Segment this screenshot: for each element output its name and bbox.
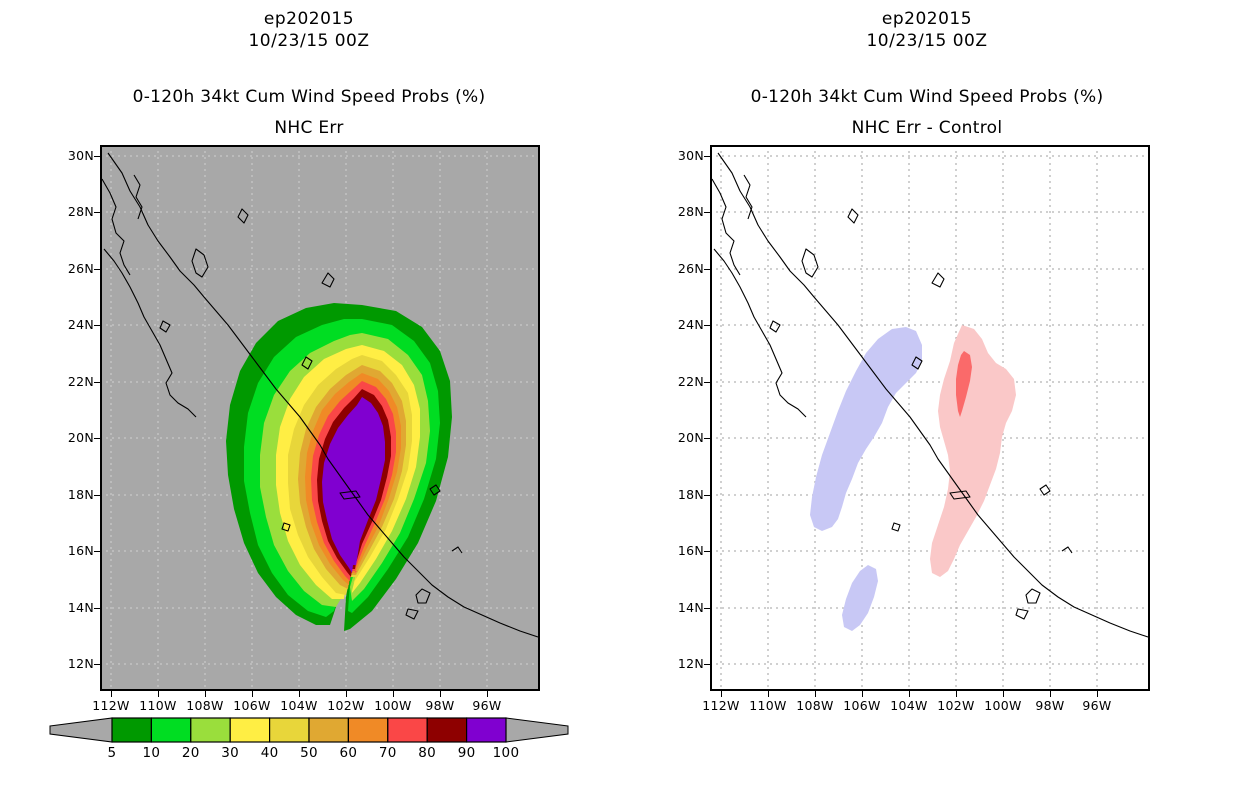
colorbar-tick-1: 10 [143, 746, 161, 760]
left-date: 10/23/15 00Z [0, 30, 618, 52]
colorbar-tick-6: 60 [340, 746, 358, 760]
colorbar-tick-5: 50 [300, 746, 318, 760]
colorbar-tick-4: 40 [261, 746, 279, 760]
map-frame-left [100, 145, 540, 691]
colorbar-probability[interactable]: 5 10 20 30 40 50 60 70 80 90 100 [0, 716, 618, 774]
colorbar-tick-9: 90 [458, 746, 476, 760]
colorbar-tick-8: 80 [418, 746, 436, 760]
colorbar-tick-7: 70 [379, 746, 397, 760]
map-difference[interactable]: 30N 28N 26N 24N 22N 20N 18N 16N 14N 12N … [710, 145, 1150, 691]
right-subtitle: NHC Err - Control [618, 117, 1236, 139]
colorbar-tick-0: 5 [108, 746, 117, 760]
left-storm-id: ep202015 [0, 8, 618, 30]
map-nhc-err[interactable]: 30N 28N 26N 24N 22N 20N 18N 16N 14N 12N … [100, 145, 540, 691]
panel-nhc-err-minus-control: ep202015 10/23/15 00Z 0-120h 34kt Cum Wi… [618, 0, 1236, 800]
left-subtitle: NHC Err [0, 117, 618, 139]
right-storm-id: ep202015 [618, 8, 1236, 30]
colorbar-tick-3: 30 [221, 746, 239, 760]
map-frame-right [710, 145, 1150, 691]
colorbar-tick-10: 100 [493, 746, 520, 760]
panel-nhc-err: ep202015 10/23/15 00Z 0-120h 34kt Cum Wi… [0, 0, 618, 800]
left-title: 0-120h 34kt Cum Wind Speed Probs (%) [0, 86, 618, 108]
right-date: 10/23/15 00Z [618, 30, 1236, 52]
colorbar-tick-2: 20 [182, 746, 200, 760]
right-title: 0-120h 34kt Cum Wind Speed Probs (%) [618, 86, 1236, 108]
